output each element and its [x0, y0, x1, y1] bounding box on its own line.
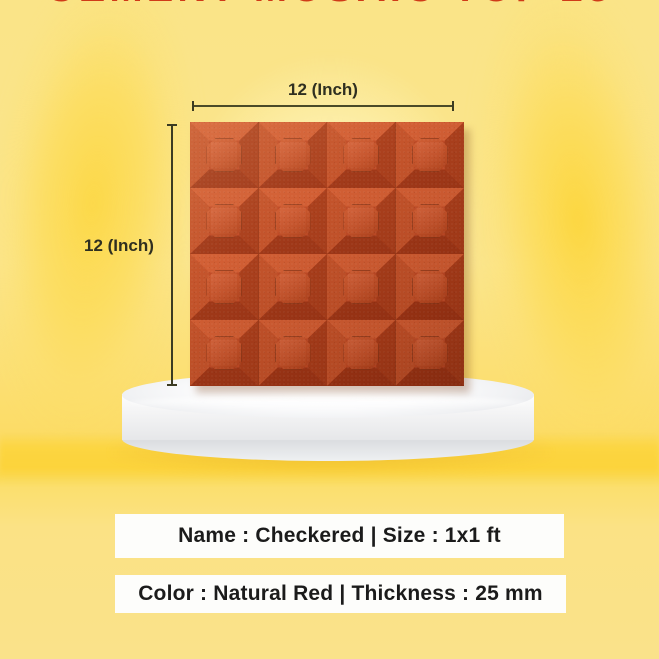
- tile-cell: [327, 188, 396, 254]
- tile-cell-plateau-top: [280, 274, 306, 299]
- tile-cell: [327, 254, 396, 320]
- tile-cell: [190, 320, 259, 386]
- spec-box-name-size: Name : Checkered | Size : 1x1 ft: [115, 514, 564, 558]
- tile-cell: [259, 122, 328, 188]
- dimension-height-cap-top: [167, 124, 177, 126]
- spec-text-color-thickness: Color : Natural Red | Thickness : 25 mm: [138, 582, 543, 606]
- tile-cell-plateau-top: [348, 142, 374, 167]
- tile-cell: [259, 188, 328, 254]
- tile-cell-plateau-top: [280, 142, 306, 167]
- dimension-height-rule: [171, 124, 173, 386]
- tile-cell: [396, 254, 465, 320]
- tile-cell-plateau-top: [417, 274, 443, 299]
- tile-cell: [396, 320, 465, 386]
- dimension-height-label: 12 (Inch): [84, 236, 154, 256]
- tile-cell: [190, 254, 259, 320]
- tile-cell-plateau-top: [211, 208, 237, 233]
- tile-surface-grid: [190, 122, 464, 386]
- tile-cell: [190, 122, 259, 188]
- tile-cell: [396, 122, 465, 188]
- dimension-line-height: [167, 124, 177, 386]
- cropped-headline-strip: CEMENT MOSAIC TOP 25: [0, 0, 659, 9]
- tile-cell-plateau-top: [348, 340, 374, 365]
- tile-cell: [259, 320, 328, 386]
- product-image-canvas: CEMENT MOSAIC TOP 25 12 (Inch) 12 (Inch)…: [0, 0, 659, 659]
- tile-cell-plateau-top: [280, 208, 306, 233]
- dimension-width-rule: [192, 105, 454, 107]
- dimension-line-width: [192, 101, 454, 111]
- tile-product: [190, 122, 464, 386]
- tile-cell-plateau-top: [417, 208, 443, 233]
- spec-text-name-size: Name : Checkered | Size : 1x1 ft: [178, 524, 501, 548]
- tile-cell-plateau-top: [417, 340, 443, 365]
- dimension-width-label: 12 (Inch): [192, 80, 454, 100]
- tile-cell-plateau-top: [348, 208, 374, 233]
- tile-cell-plateau-top: [348, 274, 374, 299]
- headline-text: CEMENT MOSAIC TOP 25: [46, 0, 614, 9]
- tile-cell-plateau-top: [417, 142, 443, 167]
- tile-cell-plateau-top: [280, 340, 306, 365]
- pedestal-edge-highlight: [128, 396, 528, 410]
- tile-cell-plateau-top: [211, 274, 237, 299]
- dimension-width-cap-right: [452, 101, 454, 111]
- spec-box-color-thickness: Color : Natural Red | Thickness : 25 mm: [115, 575, 566, 613]
- dimension-width-cap-left: [192, 101, 194, 111]
- tile-cell: [396, 188, 465, 254]
- tile-cell: [190, 188, 259, 254]
- tile-cell: [259, 254, 328, 320]
- tile-cell: [327, 122, 396, 188]
- dimension-height-cap-bottom: [167, 384, 177, 386]
- tile-cell-plateau-top: [211, 340, 237, 365]
- tile-cell: [327, 320, 396, 386]
- tile-cell-plateau-top: [211, 142, 237, 167]
